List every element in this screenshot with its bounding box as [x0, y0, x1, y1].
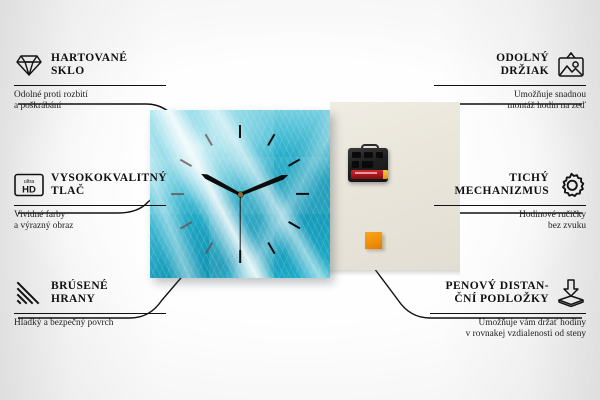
product-photo-stage	[150, 102, 460, 292]
feature-description: Umožňuje snadnou montáž hodin na zeď	[434, 90, 586, 113]
feature-divider	[430, 313, 586, 314]
feature-ground-edges: BRÚSENÉ HRANY Hladký a bezpečný povrch	[14, 276, 166, 329]
feature-heading: PENOVÝ DISTAN- ČNÍ PODLOŽKY	[430, 276, 586, 310]
ultra-hd-badge-icon: ultra HD	[14, 170, 44, 200]
feature-title: HARTOVANÉ SKLO	[51, 52, 127, 78]
battery-label-stripe	[355, 172, 377, 174]
feature-divider	[14, 313, 166, 314]
feature-title: BRÚSENÉ HRANY	[51, 280, 108, 306]
feature-heading: ODOLNÝ DRŽIAK	[434, 48, 586, 82]
mechanism-vent	[362, 161, 373, 168]
feature-description: Hladký a bezpečný povrch	[14, 318, 166, 329]
mechanism-housing	[348, 148, 388, 182]
clock-mechanism-module	[348, 144, 388, 182]
beveled-edges-icon	[14, 278, 44, 308]
press-down-pad-icon	[556, 278, 586, 308]
mechanism-vent	[376, 152, 383, 158]
feature-divider	[434, 85, 586, 86]
mechanism-vent	[364, 152, 373, 158]
clock-second-hand	[239, 194, 240, 252]
hour-tick-9	[171, 193, 184, 195]
mechanism-battery	[351, 170, 385, 179]
product-feature-infographic: HARTOVANÉ SKLO Odolné proti rozbití a po…	[0, 0, 600, 400]
mechanism-vent	[352, 152, 361, 158]
feature-heading: HARTOVANÉ SKLO	[14, 48, 166, 82]
battery-positive-terminal	[383, 170, 388, 179]
feature-description: Odolné proti rozbití a poškrábání	[14, 90, 166, 113]
orange-foam-spacer-pad	[365, 232, 382, 249]
svg-text:HD: HD	[22, 185, 36, 196]
hour-tick-12	[239, 125, 241, 138]
feature-description: Vividné farby a výrazný obraz	[14, 210, 166, 233]
feature-title: ODOLNÝ DRŽIAK	[496, 52, 549, 78]
gear-icon	[556, 170, 586, 200]
feature-tempered-glass: HARTOVANÉ SKLO Odolné proti rozbití a po…	[14, 48, 166, 113]
feature-title: TICHÝ MECHANIZMUS	[455, 172, 550, 198]
feature-heading: ultra HD VYSOKOKVALITNÝ TLAČ	[14, 168, 166, 202]
diamond-icon	[14, 50, 44, 80]
hour-tick-6	[239, 250, 241, 263]
mechanism-vent	[352, 161, 359, 168]
picture-hanger-icon	[556, 50, 586, 80]
feature-heading: TICHÝ MECHANIZMUS	[434, 168, 586, 202]
clock-hand-cap	[238, 192, 243, 197]
hour-tick-3	[296, 193, 309, 195]
feature-title: VYSOKOKVALITNÝ TLAČ	[51, 172, 167, 198]
feature-divider	[14, 85, 166, 86]
glass-wall-clock	[150, 110, 330, 278]
feature-description: Umožňuje vám držať hodiny v rovnakej vzd…	[430, 318, 586, 341]
feature-divider	[14, 205, 166, 206]
feature-high-quality-print: ultra HD VYSOKOKVALITNÝ TLAČ Vividné far…	[14, 168, 166, 233]
feature-silent-mechanism: TICHÝ MECHANIZMUS Hodinové ručičky bez z…	[434, 168, 586, 233]
feature-title: PENOVÝ DISTAN- ČNÍ PODLOŽKY	[446, 280, 549, 306]
feature-divider	[434, 205, 586, 206]
feature-durable-holder: ODOLNÝ DRŽIAK Umožňuje snadnou montáž ho…	[434, 48, 586, 113]
feature-heading: BRÚSENÉ HRANY	[14, 276, 166, 310]
feature-foam-spacers: PENOVÝ DISTAN- ČNÍ PODLOŽKY Umožňuje vám…	[430, 276, 586, 341]
feature-description: Hodinové ručičky bez zvuku	[434, 210, 586, 233]
